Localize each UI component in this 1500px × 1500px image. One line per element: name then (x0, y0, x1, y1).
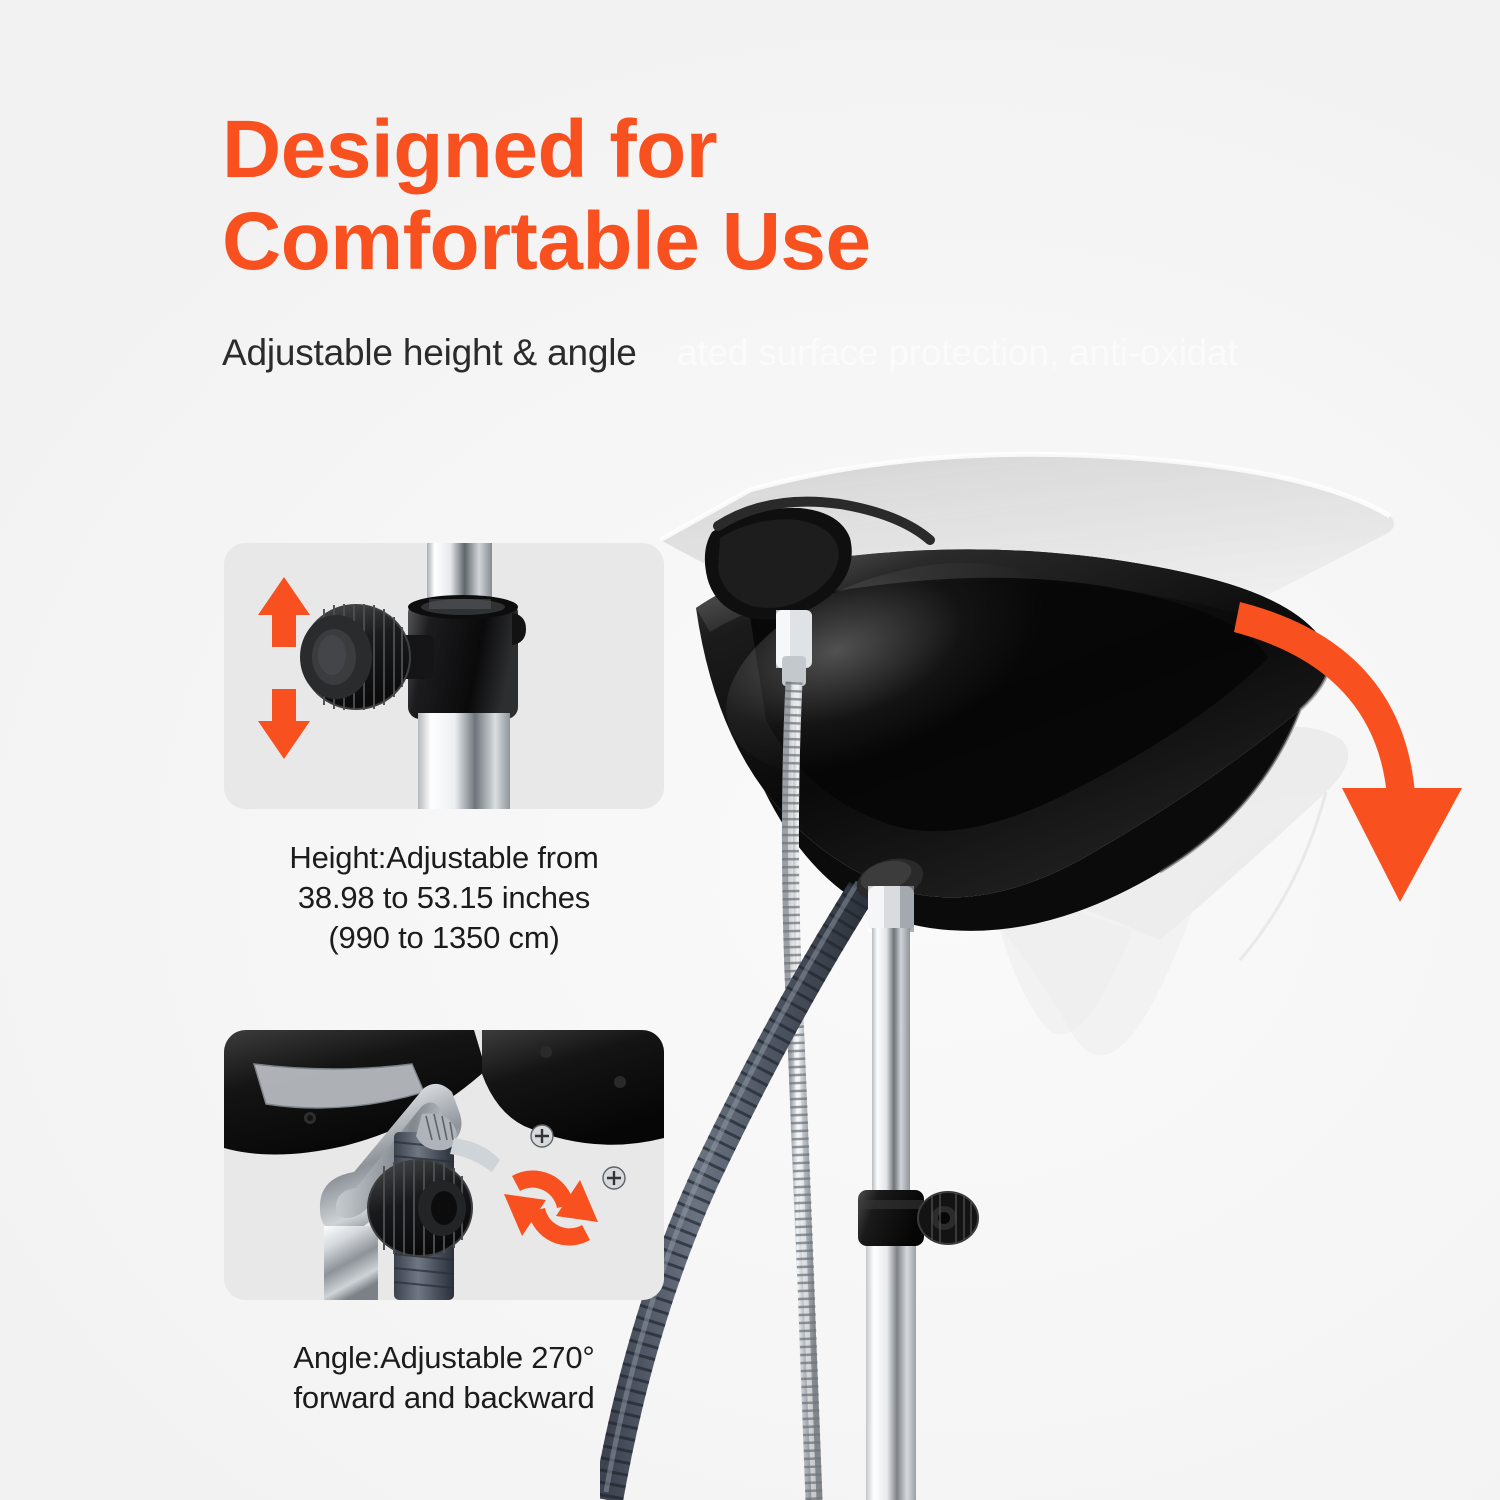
subtitle-ghost-layer: ated surface protection, anti-oxidat (677, 325, 1237, 381)
height-feature-card (224, 543, 664, 809)
height-caption: Height:Adjustable from 38.98 to 53.15 in… (224, 838, 664, 958)
angle-feature-card (224, 1030, 664, 1300)
pole-clamp-knob (858, 1190, 978, 1246)
page-title: Designed for Comfortable Use (222, 104, 1122, 288)
subtitle-row: ated surface protection, anti-oxidat Adj… (222, 325, 1500, 381)
angle-joint-photo (224, 1030, 664, 1300)
product-feature-banner: Designed for Comfortable Use ated surfac… (0, 0, 1500, 1500)
product-image (600, 420, 1500, 1500)
height-clamp-photo (224, 543, 664, 809)
angle-caption: Angle:Adjustable 270° forward and backwa… (224, 1338, 664, 1418)
page-subtitle: Adjustable height & angle (222, 325, 637, 381)
